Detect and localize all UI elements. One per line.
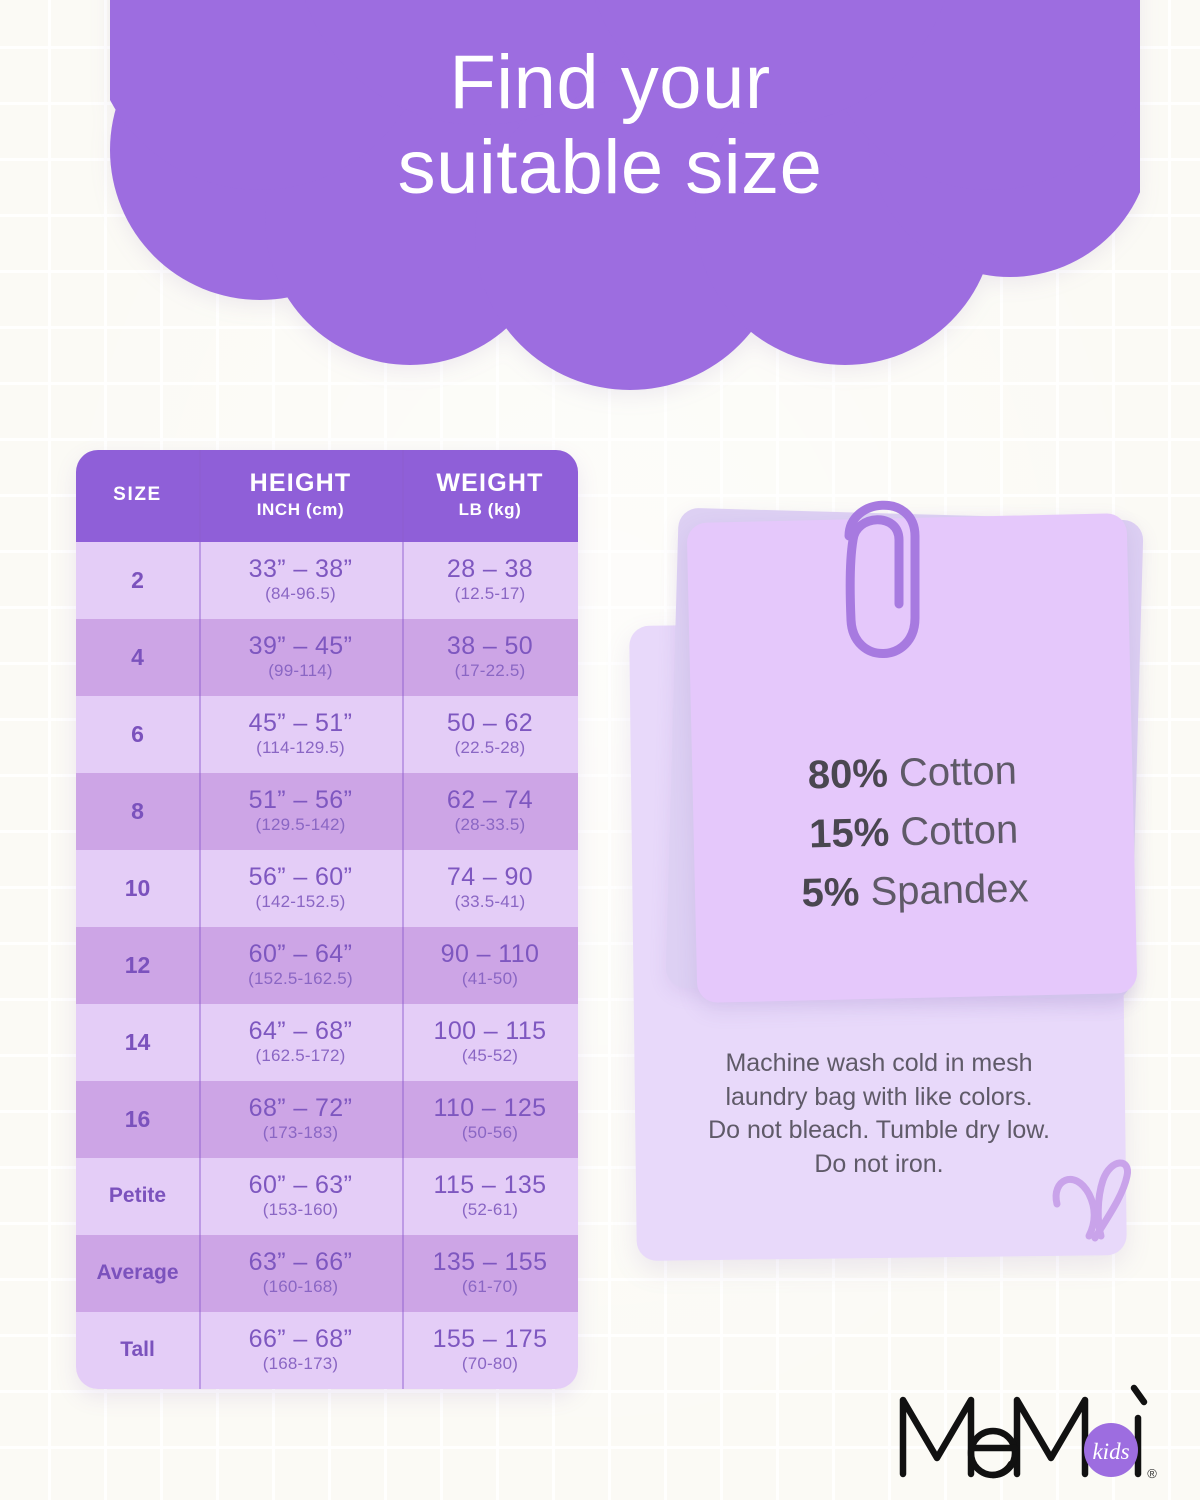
cell-height-cm: (160-168) (203, 1277, 398, 1297)
cell-weight-kg: (22.5-28) (406, 738, 574, 758)
size-guide-page: Find your suitable size SIZE HEIGHT INCH… (0, 0, 1200, 1500)
cell-size: Petite (76, 1158, 199, 1235)
care-line-3: Do not bleach. Tumble dry low. (636, 1114, 1122, 1148)
kids-badge-label: kids (1092, 1439, 1129, 1464)
cell-weight: 115 – 135(52-61) (402, 1158, 578, 1235)
table-row: 1260” – 64”(152.5-162.5)90 – 110(41-50) (76, 927, 578, 1004)
cell-weight: 28 – 38(12.5-17) (402, 542, 578, 619)
fabric-percent: 5% (801, 871, 860, 916)
cell-size-value: 2 (131, 567, 144, 594)
cell-weight-kg: (41-50) (406, 969, 574, 989)
fabric-line: 5% Spandex (694, 857, 1135, 926)
cell-size-value: 10 (125, 875, 151, 902)
cell-size: 16 (76, 1081, 199, 1158)
cell-height-cm: (142-152.5) (203, 892, 398, 912)
fabric-percent: 15% (809, 811, 890, 857)
cell-height: 39” – 45”(99-114) (199, 619, 402, 696)
cell-weight: 135 – 155(61-70) (402, 1235, 578, 1312)
cell-height-inches: 56” – 60” (203, 863, 398, 891)
cell-weight-lb: 115 – 135 (406, 1171, 574, 1199)
cell-height-inches: 39” – 45” (203, 632, 398, 660)
cell-size-value: Average (96, 1261, 178, 1285)
cell-height: 45” – 51”(114-129.5) (199, 696, 402, 773)
cell-size-value: 6 (131, 721, 144, 748)
cell-height: 63” – 66”(160-168) (199, 1235, 402, 1312)
cell-height-cm: (168-173) (203, 1354, 398, 1374)
cell-size: Tall (76, 1312, 199, 1389)
cell-weight-lb: 74 – 90 (406, 863, 574, 891)
cell-height: 33” – 38”(84-96.5) (199, 542, 402, 619)
cell-height: 56” – 60”(142-152.5) (199, 850, 402, 927)
cell-height-cm: (153-160) (203, 1200, 398, 1220)
cell-weight: 155 – 175(70-80) (402, 1312, 578, 1389)
cell-size-value: Tall (120, 1338, 155, 1362)
cell-size: Average (76, 1235, 199, 1312)
cell-height-inches: 63” – 66” (203, 1248, 398, 1276)
cell-weight-kg: (61-70) (406, 1277, 574, 1297)
cell-size: 2 (76, 542, 199, 619)
cell-weight-lb: 62 – 74 (406, 786, 574, 814)
cell-weight-kg: (45-52) (406, 1046, 574, 1066)
cell-weight-lb: 90 – 110 (406, 940, 574, 968)
cell-height-inches: 60” – 63” (203, 1171, 398, 1199)
cell-size-value: 4 (131, 644, 144, 671)
cell-weight: 38 – 50(17-22.5) (402, 619, 578, 696)
paperclip-icon (815, 478, 940, 678)
cell-size-value: 16 (125, 1106, 151, 1133)
column-header-weight: WEIGHT LB (kg) (402, 450, 578, 542)
table-row: 645” – 51”(114-129.5)50 – 62(22.5-28) (76, 696, 578, 773)
cell-height-cm: (152.5-162.5) (203, 969, 398, 989)
cell-weight-lb: 135 – 155 (406, 1248, 574, 1276)
cell-size: 12 (76, 927, 199, 1004)
cell-height: 64” – 68”(162.5-172) (199, 1004, 402, 1081)
table-row: 1464” – 68”(162.5-172)100 – 115(45-52) (76, 1004, 578, 1081)
cell-weight: 110 – 125(50-56) (402, 1081, 578, 1158)
fabric-material: Cotton (900, 808, 1019, 855)
cell-weight: 62 – 74(28-33.5) (402, 773, 578, 850)
cell-size: 8 (76, 773, 199, 850)
care-line-2: laundry bag with like colors. (636, 1081, 1122, 1115)
table-row: 851” – 56”(129.5-142)62 – 74(28-33.5) (76, 773, 578, 850)
table-row: Petite60” – 63”(153-160)115 – 135(52-61) (76, 1158, 578, 1235)
cell-height-inches: 45” – 51” (203, 709, 398, 737)
table-row: Tall66” – 68”(168-173)155 – 175(70-80) (76, 1312, 578, 1389)
table-body: 233” – 38”(84-96.5)28 – 38(12.5-17)439” … (76, 542, 578, 1389)
trademark-symbol: ® (1147, 1466, 1157, 1481)
cell-weight: 74 – 90(33.5-41) (402, 850, 578, 927)
cell-height-inches: 60” – 64” (203, 940, 398, 968)
cell-height-cm: (99-114) (203, 661, 398, 681)
cell-height-inches: 64” – 68” (203, 1017, 398, 1045)
cell-height: 51” – 56”(129.5-142) (199, 773, 402, 850)
table-row: 233” – 38”(84-96.5)28 – 38(12.5-17) (76, 542, 578, 619)
cell-weight-lb: 155 – 175 (406, 1325, 574, 1353)
cell-weight-kg: (33.5-41) (406, 892, 574, 912)
cell-height-cm: (129.5-142) (203, 815, 398, 835)
cell-height-cm: (84-96.5) (203, 584, 398, 604)
cell-weight-lb: 50 – 62 (406, 709, 574, 737)
cell-height-inches: 68” – 72” (203, 1094, 398, 1122)
cell-size: 6 (76, 696, 199, 773)
cell-weight: 90 – 110(41-50) (402, 927, 578, 1004)
fabric-material: Spandex (870, 867, 1029, 915)
cell-size: 14 (76, 1004, 199, 1081)
cell-height: 68” – 72”(173-183) (199, 1081, 402, 1158)
fabric-composition-list: 80% Cotton15% Cotton5% Spandex (692, 739, 1136, 926)
column-divider-1 (199, 450, 201, 1389)
cell-height-cm: (173-183) (203, 1123, 398, 1143)
fabric-percent: 80% (807, 752, 888, 798)
cell-weight-kg: (28-33.5) (406, 815, 574, 835)
care-line-1: Machine wash cold in mesh (636, 1047, 1122, 1081)
cell-size-value: Petite (109, 1184, 166, 1208)
fabric-line: 80% Cotton (692, 739, 1133, 808)
cell-weight: 50 – 62(22.5-28) (402, 696, 578, 773)
cell-weight-lb: 28 – 38 (406, 555, 574, 583)
fabric-line: 15% Cotton (693, 798, 1134, 867)
size-chart-table: SIZE HEIGHT INCH (cm) WEIGHT LB (kg) 233… (76, 450, 578, 1389)
cell-size: 10 (76, 850, 199, 927)
cell-height-inches: 66” – 68” (203, 1325, 398, 1353)
table-row: 439” – 45”(99-114)38 – 50(17-22.5) (76, 619, 578, 696)
title-line-1: Find your (160, 40, 1060, 125)
cell-height: 60” – 64”(152.5-162.5) (199, 927, 402, 1004)
cell-size-value: 12 (125, 952, 151, 979)
column-header-height: HEIGHT INCH (cm) (199, 450, 402, 542)
cell-height-inches: 51” – 56” (203, 786, 398, 814)
cell-size: 4 (76, 619, 199, 696)
cell-height: 66” – 68”(168-173) (199, 1312, 402, 1389)
cell-weight-lb: 100 – 115 (406, 1017, 574, 1045)
table-row: 1668” – 72”(173-183)110 – 125(50-56) (76, 1081, 578, 1158)
cell-size-value: 8 (131, 798, 144, 825)
cell-weight-kg: (12.5-17) (406, 584, 574, 604)
brand-logo: kids ® (895, 1378, 1160, 1486)
cell-weight-lb: 38 – 50 (406, 632, 574, 660)
cell-weight-kg: (52-61) (406, 1200, 574, 1220)
title-line-2: suitable size (160, 125, 1060, 210)
cell-weight-kg: (70-80) (406, 1354, 574, 1374)
page-title: Find your suitable size (160, 40, 1060, 210)
cell-weight-lb: 110 – 125 (406, 1094, 574, 1122)
cell-weight: 100 – 115(45-52) (402, 1004, 578, 1081)
cell-weight-kg: (17-22.5) (406, 661, 574, 681)
table-header-row: SIZE HEIGHT INCH (cm) WEIGHT LB (kg) (76, 450, 578, 542)
cell-height-inches: 33” – 38” (203, 555, 398, 583)
heart-doodle-icon (1045, 1152, 1150, 1252)
cell-height: 60” – 63”(153-160) (199, 1158, 402, 1235)
table-row: 1056” – 60”(142-152.5)74 – 90(33.5-41) (76, 850, 578, 927)
cell-weight-kg: (50-56) (406, 1123, 574, 1143)
column-header-size: SIZE (76, 450, 199, 542)
cell-size-value: 14 (125, 1029, 151, 1056)
fabric-material: Cotton (899, 749, 1018, 796)
cell-height-cm: (162.5-172) (203, 1046, 398, 1066)
cell-height-cm: (114-129.5) (203, 738, 398, 758)
column-divider-2 (402, 450, 404, 1389)
table-row: Average63” – 66”(160-168)135 – 155(61-70… (76, 1235, 578, 1312)
